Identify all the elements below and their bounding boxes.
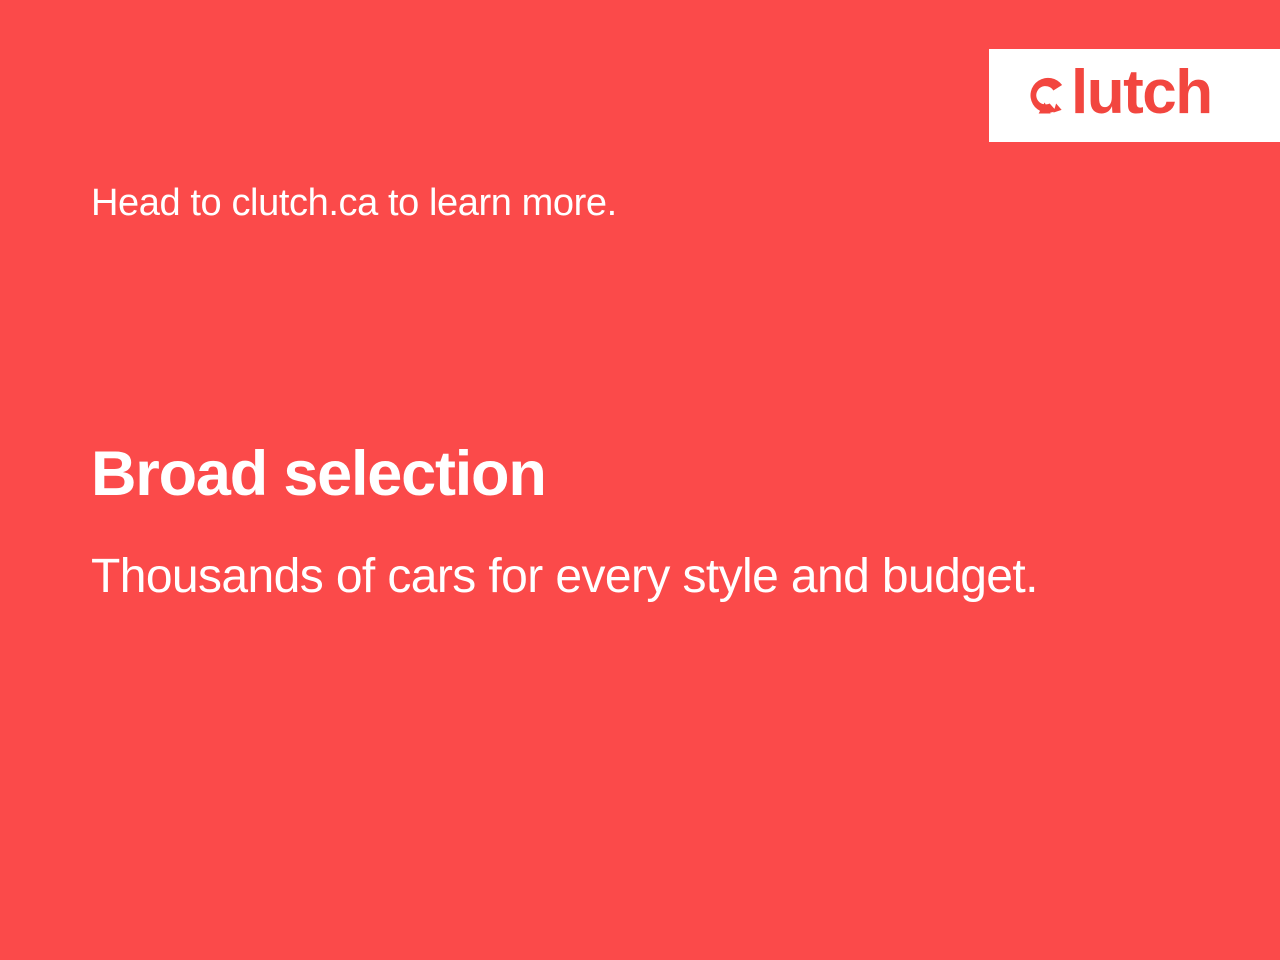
kicker-text: Head to clutch.ca to learn more. [91,182,617,226]
slide-canvas: lutch Head to clutch.ca to learn more. B… [0,0,1280,960]
clutch-c-mark-icon [1023,74,1069,120]
headline: Broad selection [91,441,546,507]
brand-wordmark: lutch [1071,62,1212,124]
brand-logo-plate[interactable]: lutch [989,49,1280,142]
subheadline: Thousands of cars for every style and bu… [91,545,1051,609]
brand-logo-lockup: lutch [1023,65,1212,127]
